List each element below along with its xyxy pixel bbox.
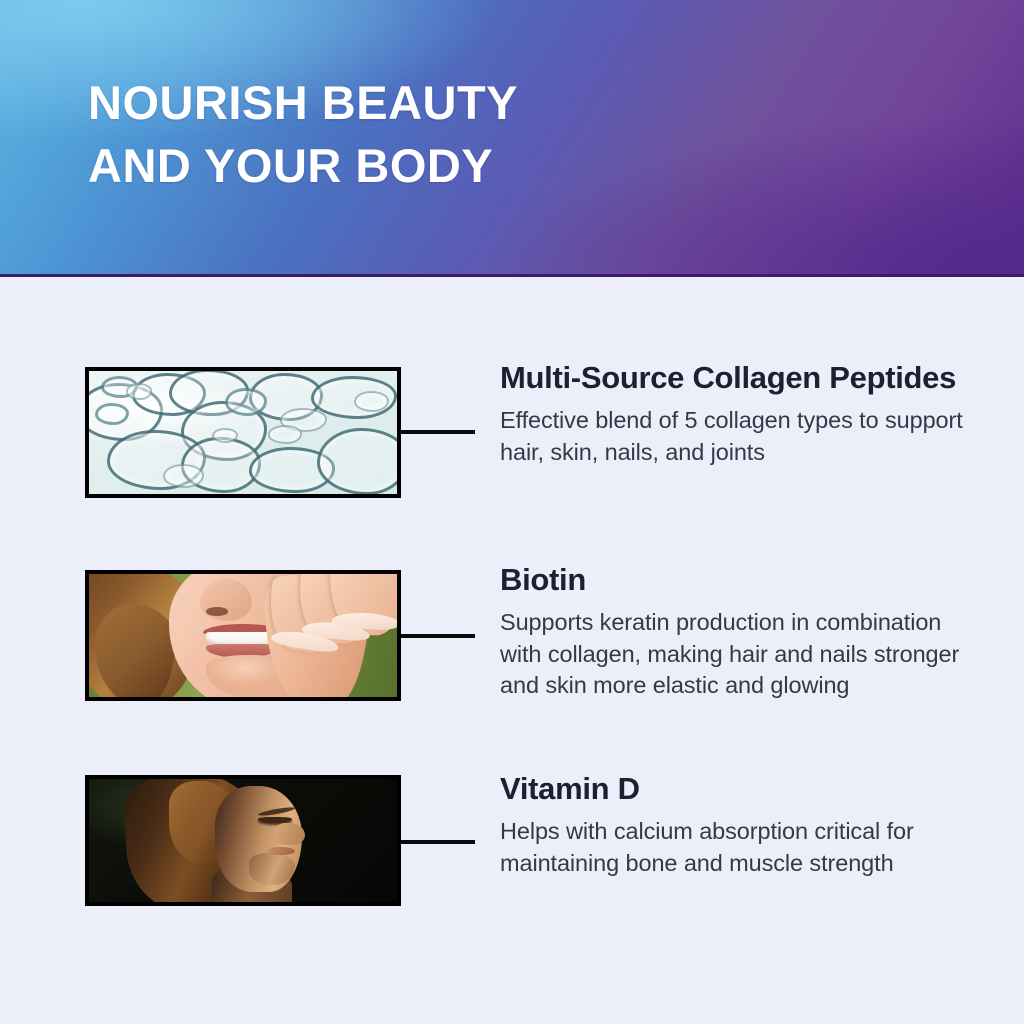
- feature-connector-line: [401, 634, 475, 638]
- feature-description: Supports keratin production in combinati…: [500, 607, 970, 701]
- feature-text-block: Biotin Supports keratin production in co…: [500, 562, 970, 701]
- feature-thumbnail-sunlit-profile: [85, 775, 401, 906]
- feature-text-block: Multi-Source Collagen Peptides Effective…: [500, 360, 970, 468]
- hero-banner: NOURISH BEAUTY AND YOUR BODY: [0, 0, 1024, 277]
- feature-text-block: Vitamin D Helps with calcium absorption …: [500, 771, 970, 879]
- feature-description: Helps with calcium absorption critical f…: [500, 816, 970, 879]
- feature-title: Vitamin D: [500, 771, 970, 807]
- water-bubbles-photo: [89, 371, 397, 494]
- feature-connector-line: [401, 430, 475, 434]
- feature-connector-line: [401, 840, 475, 844]
- feature-title: Multi-Source Collagen Peptides: [500, 360, 970, 396]
- feature-thumbnail-smiling-woman: [85, 570, 401, 701]
- sunlit-profile-photo: [89, 779, 397, 902]
- feature-description: Effective blend of 5 collagen types to s…: [500, 405, 970, 468]
- smiling-woman-photo: [89, 574, 397, 697]
- hero-title: NOURISH BEAUTY AND YOUR BODY: [88, 72, 518, 197]
- feature-thumbnail-water-bubbles: [85, 367, 401, 498]
- feature-title: Biotin: [500, 562, 970, 598]
